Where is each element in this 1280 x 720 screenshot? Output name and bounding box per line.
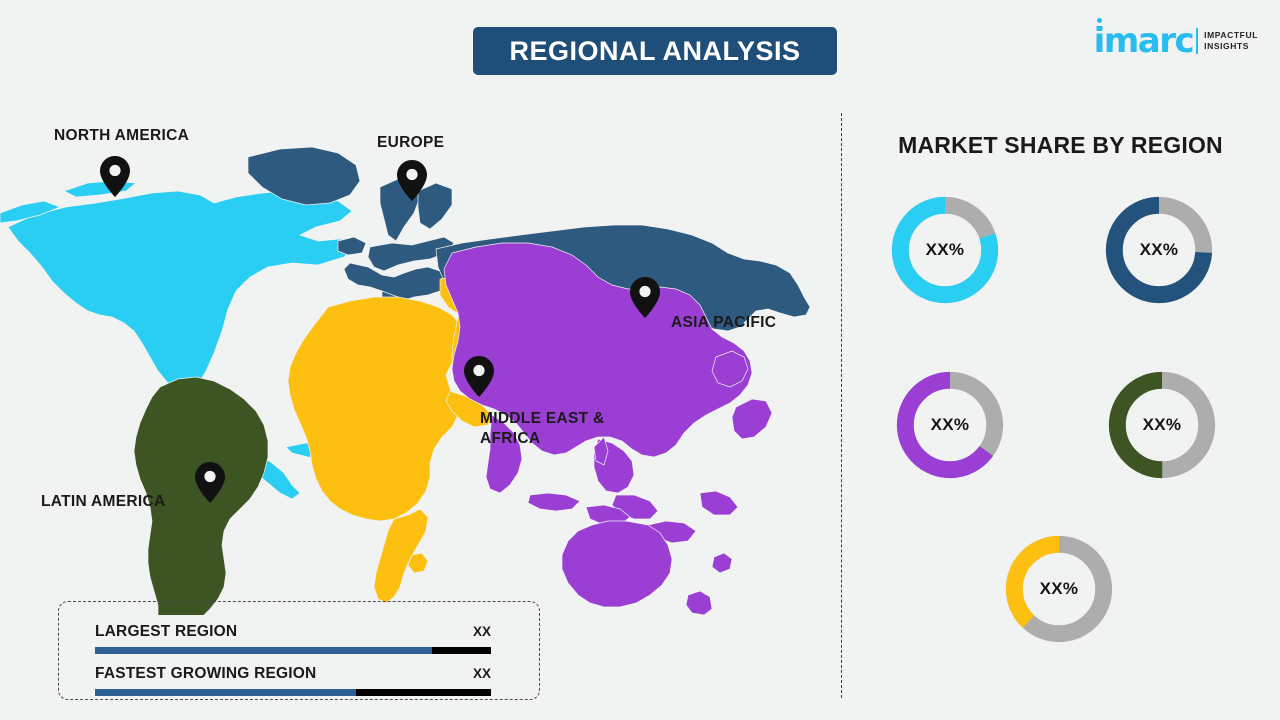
panel-divider [841, 113, 842, 698]
map-pin-north-america[interactable] [100, 156, 130, 197]
legend-row-largest-region: LARGEST REGION XX [95, 623, 491, 654]
donut-chart-north-america: XX% [886, 191, 1004, 309]
map-pin-asia-pacific[interactable] [630, 277, 660, 318]
legend-value-fastest-growing-region: XX [473, 666, 491, 681]
map-label-europe: EUROPE [377, 133, 444, 153]
page-title-banner: REGIONAL ANALYSIS [473, 27, 837, 75]
map-label-north-america: NORTH AMERICA [54, 126, 189, 146]
legend-bar-track-fastest-growing-region [95, 689, 491, 696]
region-summary-box: LARGEST REGION XX FASTEST GROWING REGION… [58, 601, 540, 700]
donut-value-latin-america: XX% [1103, 366, 1221, 484]
legend-bar-fill-fastest-growing-region [95, 689, 356, 696]
legend-row-fastest-growing-region: FASTEST GROWING REGION XX [95, 665, 491, 696]
logo-tagline-line2: INSIGHTS [1204, 41, 1258, 52]
logo-divider-bar [1196, 28, 1198, 54]
map-pin-middle-east-africa[interactable] [464, 356, 494, 397]
imarc-logo: imarc IMPACTFUL INSIGHTS [1094, 24, 1258, 58]
map-pin-europe[interactable] [397, 160, 427, 201]
legend-label-largest-region: LARGEST REGION [95, 623, 237, 641]
donut-value-europe: XX% [1100, 191, 1218, 309]
map-label-latin-america: LATIN AMERICA [41, 492, 165, 512]
donut-chart-middle-east-africa: XX% [1000, 530, 1118, 648]
donut-chart-europe: XX% [1100, 191, 1218, 309]
map-label-middle-east-africa: MIDDLE EAST & AFRICA [480, 409, 640, 449]
legend-label-fastest-growing-region: FASTEST GROWING REGION [95, 665, 316, 683]
donut-chart-latin-america: XX% [1103, 366, 1221, 484]
logo-tagline-line1: IMPACTFUL [1204, 30, 1258, 41]
donut-value-asia-pacific: XX% [891, 366, 1009, 484]
market-share-panel-title: MARKET SHARE BY REGION [841, 132, 1280, 159]
legend-bar-fill-largest-region [95, 647, 432, 654]
donut-chart-asia-pacific: XX% [891, 366, 1009, 484]
donut-value-north-america: XX% [886, 191, 1004, 309]
logo-tagline: IMPACTFUL INSIGHTS [1204, 30, 1258, 51]
logo-dot-icon [1097, 18, 1102, 23]
legend-value-largest-region: XX [473, 624, 491, 639]
donut-value-middle-east-africa: XX% [1000, 530, 1118, 648]
page-title: REGIONAL ANALYSIS [509, 36, 800, 67]
map-pin-latin-america[interactable] [195, 462, 225, 503]
logo-wordmark: imarc [1094, 24, 1193, 58]
regional-analysis-infographic: REGIONAL ANALYSIS imarc IMPACTFUL INSIGH… [0, 0, 1280, 720]
map-label-asia-pacific: ASIA PACIFIC [671, 313, 776, 333]
legend-bar-track-largest-region [95, 647, 491, 654]
